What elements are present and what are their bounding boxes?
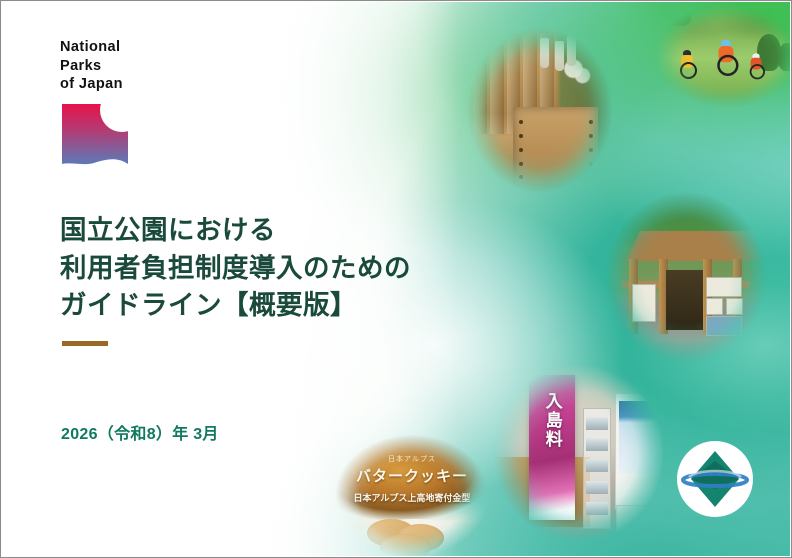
document-cover-page: 日本アルプス バタークッキー 日本アルプス上高地寄付金型 入島料 [0,0,792,558]
cover-canvas: 日本アルプス バタークッキー 日本アルプス上高地寄付金型 入島料 [2,2,790,556]
publication-date: 2026（令和8）年 3月 [61,420,219,444]
title-line-3: ガイドライン【概要版】 [60,287,490,325]
photo-visitor-centre-kiosk: 入島料 [490,360,668,546]
fuji-sun-mark-icon [60,102,130,166]
photo-trailhead-gate [602,188,770,366]
ministry-of-environment-emblem-icon [675,439,755,519]
photo-donation-box [464,24,616,196]
cookie-package-small-text: 日本アルプス [354,454,469,464]
cookie-package-subtitle: 日本アルプス上高地寄付金型 [338,491,485,504]
title-line-1: 国立公園における [60,212,490,250]
cover-title: 国立公園における 利用者負担制度導入のための ガイドライン【概要版】 [60,212,490,325]
photo-mountain-bikers [652,2,790,110]
payment-kiosk [615,393,663,510]
cookie-package-title: バタークッキー [345,465,479,486]
entry-fee-banner-text: 入島料 [540,392,565,449]
photo-butter-cookies: 日本アルプス バタークッキー 日本アルプス上高地寄付金型 [332,432,492,556]
brochure-rack [583,408,612,529]
logo-wordmark: National Parks of Japan [60,38,184,94]
national-parks-of-japan-logo: National Parks of Japan [60,38,184,171]
title-divider-rule [62,341,108,346]
title-line-2: 利用者負担制度導入のための [60,250,490,288]
entry-fee-banner: 入島料 [529,375,575,520]
